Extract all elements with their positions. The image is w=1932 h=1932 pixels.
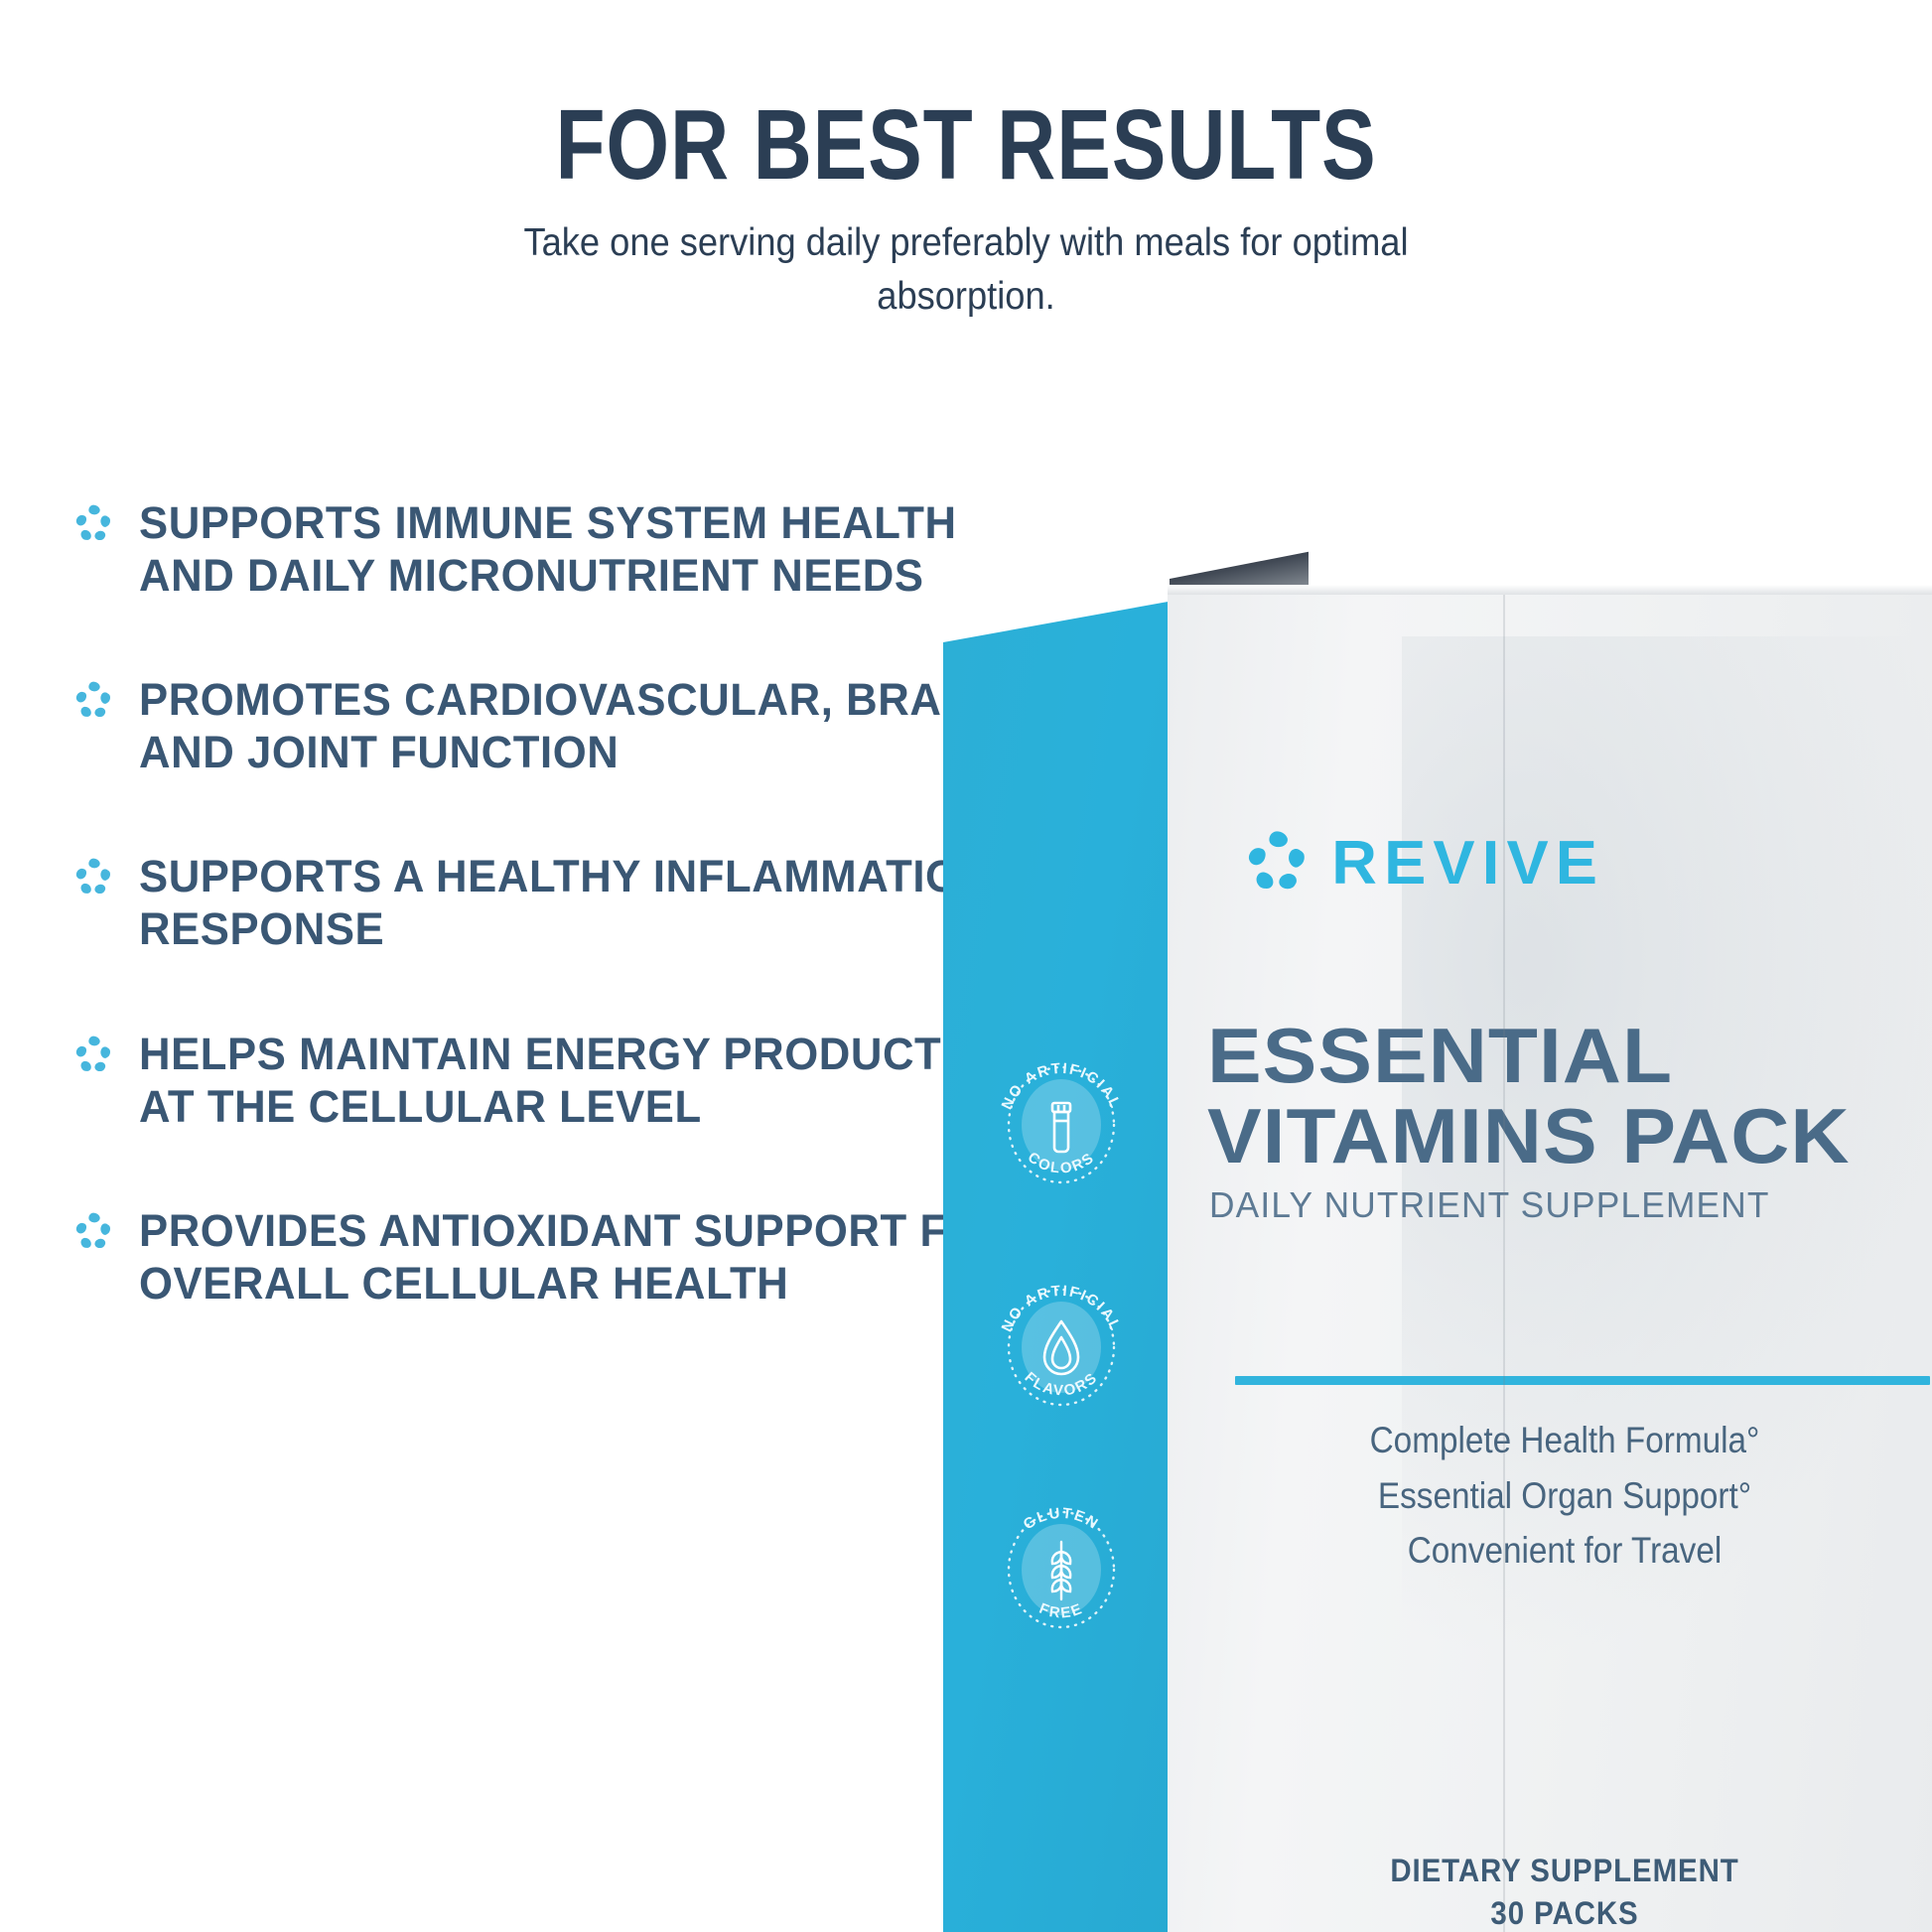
benefit-label: SUPPORTS IMMUNE SYSTEM HEALTH AND DAILY … (139, 496, 1055, 602)
claim-line: Essential Organ Support° (1243, 1468, 1886, 1524)
product-marketing-page: FOR BEST RESULTS Take one serving daily … (0, 0, 1932, 1932)
revive-petal-icon (71, 502, 115, 546)
header-section: FOR BEST RESULTS Take one serving daily … (0, 0, 1932, 324)
page-title: FOR BEST RESULTS (174, 0, 1758, 195)
brand-lockup: REVIVE (1241, 827, 1601, 898)
claim-line: Complete Health Formula° (1243, 1413, 1886, 1468)
product-box-image: NO ARTIFICIAL COLORS (933, 541, 1932, 1932)
box-front-crease (1503, 593, 1505, 1932)
revive-petal-icon (71, 856, 115, 899)
footer-line: DIETARY SUPPLEMENT (1236, 1850, 1893, 1892)
box-top-lip (1168, 585, 1932, 595)
benefit-label: PROMOTES CARDIOVASCULAR, BRAIN, AND JOIN… (139, 673, 1055, 778)
list-item: HELPS MAINTAIN ENERGY PRODUCTION AT THE … (71, 1028, 1084, 1133)
list-item: SUPPORTS IMMUNE SYSTEM HEALTH AND DAILY … (71, 496, 1084, 602)
benefit-label: HELPS MAINTAIN ENERGY PRODUCTION AT THE … (139, 1028, 1055, 1133)
product-title: ESSENTIAL VITAMINS PACK (1207, 1016, 1932, 1176)
seal-no-artificial-colors: NO ARTIFICIAL COLORS (987, 1049, 1136, 1198)
page-subtitle: Take one serving daily preferably with m… (504, 216, 1428, 324)
divider (1235, 1376, 1930, 1385)
revive-petal-icon (71, 1210, 115, 1254)
box-side-panel: NO ARTIFICIAL COLORS (943, 601, 1173, 1932)
revive-petal-icon (1241, 827, 1312, 898)
benefits-list: SUPPORTS IMMUNE SYSTEM HEALTH AND DAILY … (71, 496, 1084, 1310)
revive-petal-icon (71, 679, 115, 723)
list-item: PROVIDES ANTIOXIDANT SUPPORT FOR OVERALL… (71, 1204, 1084, 1310)
benefit-label: PROVIDES ANTIOXIDANT SUPPORT FOR OVERALL… (139, 1204, 1055, 1310)
footer-line: 30 PACKS (1236, 1892, 1893, 1932)
list-item: PROMOTES CARDIOVASCULAR, BRAIN, AND JOIN… (71, 673, 1084, 778)
seal-no-artificial-flavors: NO ARTIFICIAL FLAVORS (987, 1272, 1136, 1421)
revive-petal-icon (71, 1034, 115, 1077)
product-footer: DIETARY SUPPLEMENT 30 PACKS (1236, 1850, 1893, 1932)
box-front-panel: REVIVE ESSENTIAL VITAMINS PACK DAILY NUT… (1168, 589, 1932, 1932)
product-subtitle: DAILY NUTRIENT SUPPLEMENT (1209, 1184, 1932, 1226)
brand-name: REVIVE (1331, 828, 1604, 898)
list-item: SUPPORTS A HEALTHY INFLAMMATION RESPONSE (71, 850, 1084, 955)
benefit-label: SUPPORTS A HEALTHY INFLAMMATION RESPONSE (139, 850, 1055, 955)
seal-gluten-free: GLUTEN FREE (987, 1494, 1136, 1643)
product-claims: Complete Health Formula° Essential Organ… (1243, 1413, 1886, 1579)
claim-line: Convenient for Travel (1243, 1523, 1886, 1579)
